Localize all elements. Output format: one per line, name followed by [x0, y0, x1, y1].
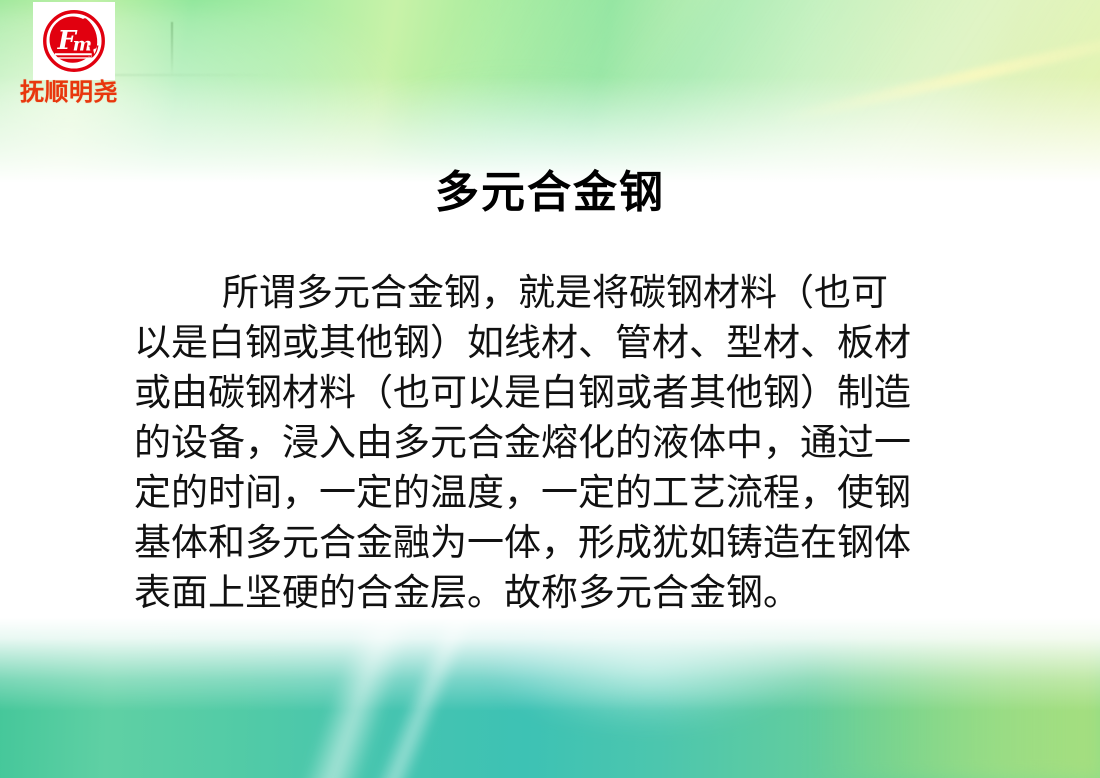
body-line: 的设备，浸入由多元合金熔化的液体中，通过一 — [134, 418, 1024, 468]
body-line: 基体和多元合金融为一体，形成犹如铸造在钢体 — [134, 518, 1024, 568]
body-line: 以是白钢或其他钢）如线材、管材、型材、板材 — [134, 318, 1024, 368]
slide-title: 多元合金钢 — [0, 168, 1100, 217]
presentation-slide: F m y 抚顺明尧 多元合金钢 所谓多元合金钢，就是将碳钢材料（也可 以是白钢… — [0, 0, 1100, 778]
body-line: 或由碳钢材料（也可以是白钢或者其他钢）制造 — [134, 368, 1024, 418]
body-line: 所谓多元合金钢，就是将碳钢材料（也可 — [134, 268, 1024, 318]
body-line: 定的时间，一定的温度，一定的工艺流程，使钢 — [134, 468, 1024, 518]
slide-body-text: 所谓多元合金钢，就是将碳钢材料（也可 以是白钢或其他钢）如线材、管材、型材、板材… — [134, 268, 1024, 618]
body-line: 表面上坚硬的合金层。故称多元合金钢。 — [134, 568, 1024, 618]
slide-content: 多元合金钢 所谓多元合金钢，就是将碳钢材料（也可 以是白钢或其他钢）如线材、管材… — [0, 0, 1100, 778]
